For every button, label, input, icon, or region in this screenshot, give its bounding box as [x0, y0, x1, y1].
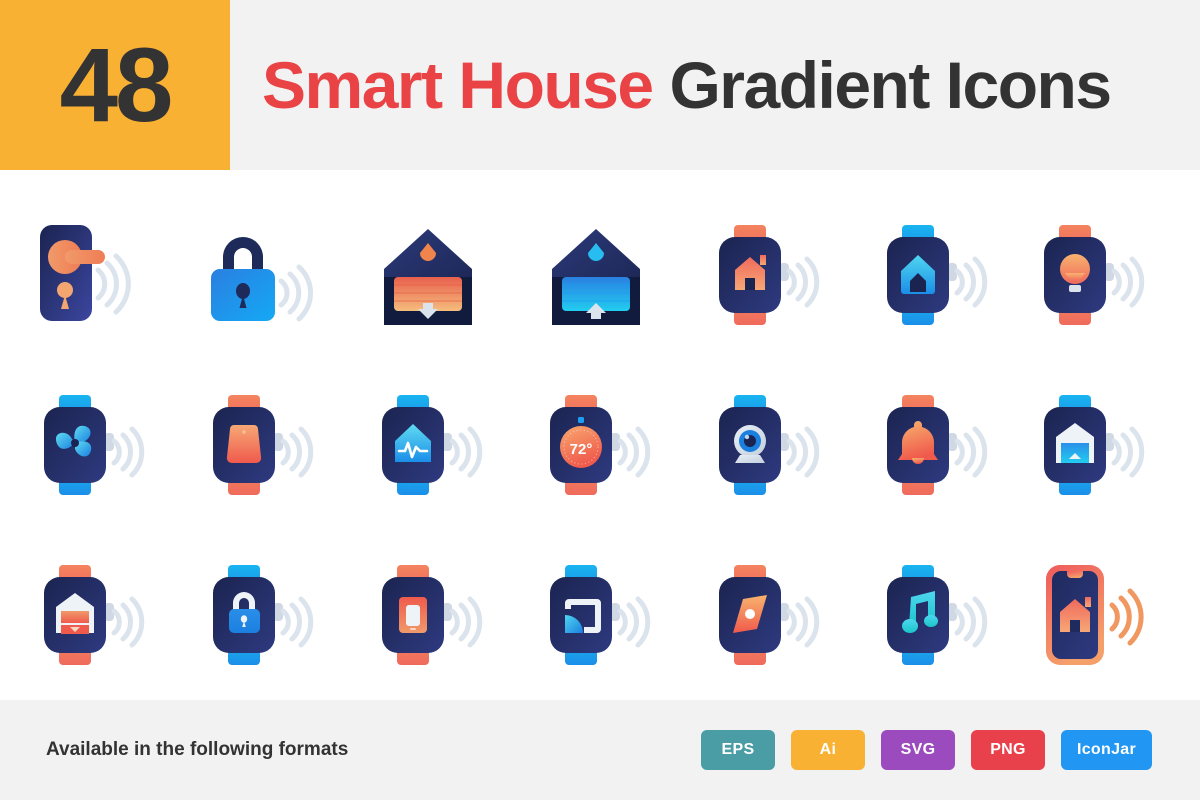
icon-row: 72° — [0, 365, 1200, 535]
icon-cell-padlock-wifi[interactable] — [181, 195, 341, 355]
icon-cell-watch-garage-orange[interactable] — [12, 535, 172, 695]
icon-grid: 72° — [0, 170, 1200, 700]
smartwatch-home-outline-icon — [875, 215, 995, 335]
icon-pack-preview: 48 Smart House Gradient Icons — [0, 0, 1200, 800]
icon-cell-watch-home[interactable] — [687, 195, 847, 355]
smartwatch-home-monitor-icon — [370, 385, 490, 505]
smartwatch-thermostat-icon: 72° — [538, 385, 658, 505]
smartwatch-mobile-icon — [370, 555, 490, 675]
icon-row — [0, 195, 1200, 365]
icon-cell-watch-garage[interactable] — [1012, 365, 1172, 525]
icon-cell-garage-opening[interactable] — [518, 195, 678, 355]
smartwatch-garage-icon — [1032, 385, 1152, 505]
garage-door-opening-icon — [538, 215, 658, 335]
icon-cell-watch-home-monitor[interactable] — [350, 365, 510, 525]
format-badge-iconjar[interactable]: IconJar — [1061, 730, 1152, 770]
smartwatch-cast-icon — [538, 555, 658, 675]
formats-label: Available in the following formats — [46, 739, 348, 761]
garage-door-closing-icon — [370, 215, 490, 335]
smartwatch-webcam-icon — [707, 385, 827, 505]
format-badge-svg[interactable]: SVG — [881, 730, 955, 770]
smartwatch-speaker-icon — [201, 385, 321, 505]
icon-cell-smart-door-lock[interactable] — [12, 195, 172, 355]
icon-row — [0, 535, 1200, 705]
smartphone-home-icon — [1032, 555, 1152, 675]
smartwatch-compass-icon — [707, 555, 827, 675]
icon-cell-watch-fan[interactable] — [12, 365, 172, 525]
thermostat-value: 72° — [570, 441, 593, 458]
format-badge-eps[interactable]: EPS — [701, 730, 775, 770]
smartwatch-garage-orange-icon — [32, 555, 152, 675]
icon-count: 48 — [60, 33, 171, 138]
icon-cell-watch-compass[interactable] — [687, 535, 847, 695]
smartwatch-bell-icon — [875, 385, 995, 505]
format-badge-ai[interactable]: Ai — [791, 730, 865, 770]
icon-cell-watch-music[interactable] — [855, 535, 1015, 695]
title-accent-text: Smart House — [262, 48, 653, 122]
icon-cell-watch-webcam[interactable] — [687, 365, 847, 525]
smartwatch-lightbulb-icon — [1032, 215, 1152, 335]
footer: Available in the following formats EPS A… — [0, 700, 1200, 800]
smartwatch-padlock-icon — [201, 555, 321, 675]
title-dark-text: Gradient Icons — [669, 48, 1110, 122]
format-badges: EPS Ai SVG PNG IconJar — [701, 730, 1152, 770]
icon-cell-watch-bell[interactable] — [855, 365, 1015, 525]
icon-count-block: 48 — [0, 0, 230, 170]
icon-cell-watch-cast[interactable] — [518, 535, 678, 695]
icon-cell-watch-speaker[interactable] — [181, 365, 341, 525]
page-title: Smart House Gradient Icons — [230, 0, 1200, 170]
smartwatch-home-icon — [707, 215, 827, 335]
icon-cell-watch-lightbulb[interactable] — [1012, 195, 1172, 355]
icon-cell-smartphone-home[interactable] — [1012, 535, 1172, 695]
smartwatch-music-icon — [875, 555, 995, 675]
icon-cell-watch-home-outline[interactable] — [855, 195, 1015, 355]
icon-cell-garage-closing[interactable] — [350, 195, 510, 355]
icon-cell-watch-thermostat[interactable]: 72° — [518, 365, 678, 525]
padlock-wifi-icon — [201, 215, 321, 335]
icon-cell-watch-mobile[interactable] — [350, 535, 510, 695]
format-badge-png[interactable]: PNG — [971, 730, 1045, 770]
smart-door-lock-icon — [32, 215, 152, 335]
icon-cell-watch-padlock[interactable] — [181, 535, 341, 695]
smartwatch-fan-icon — [32, 385, 152, 505]
header: 48 Smart House Gradient Icons — [0, 0, 1200, 170]
